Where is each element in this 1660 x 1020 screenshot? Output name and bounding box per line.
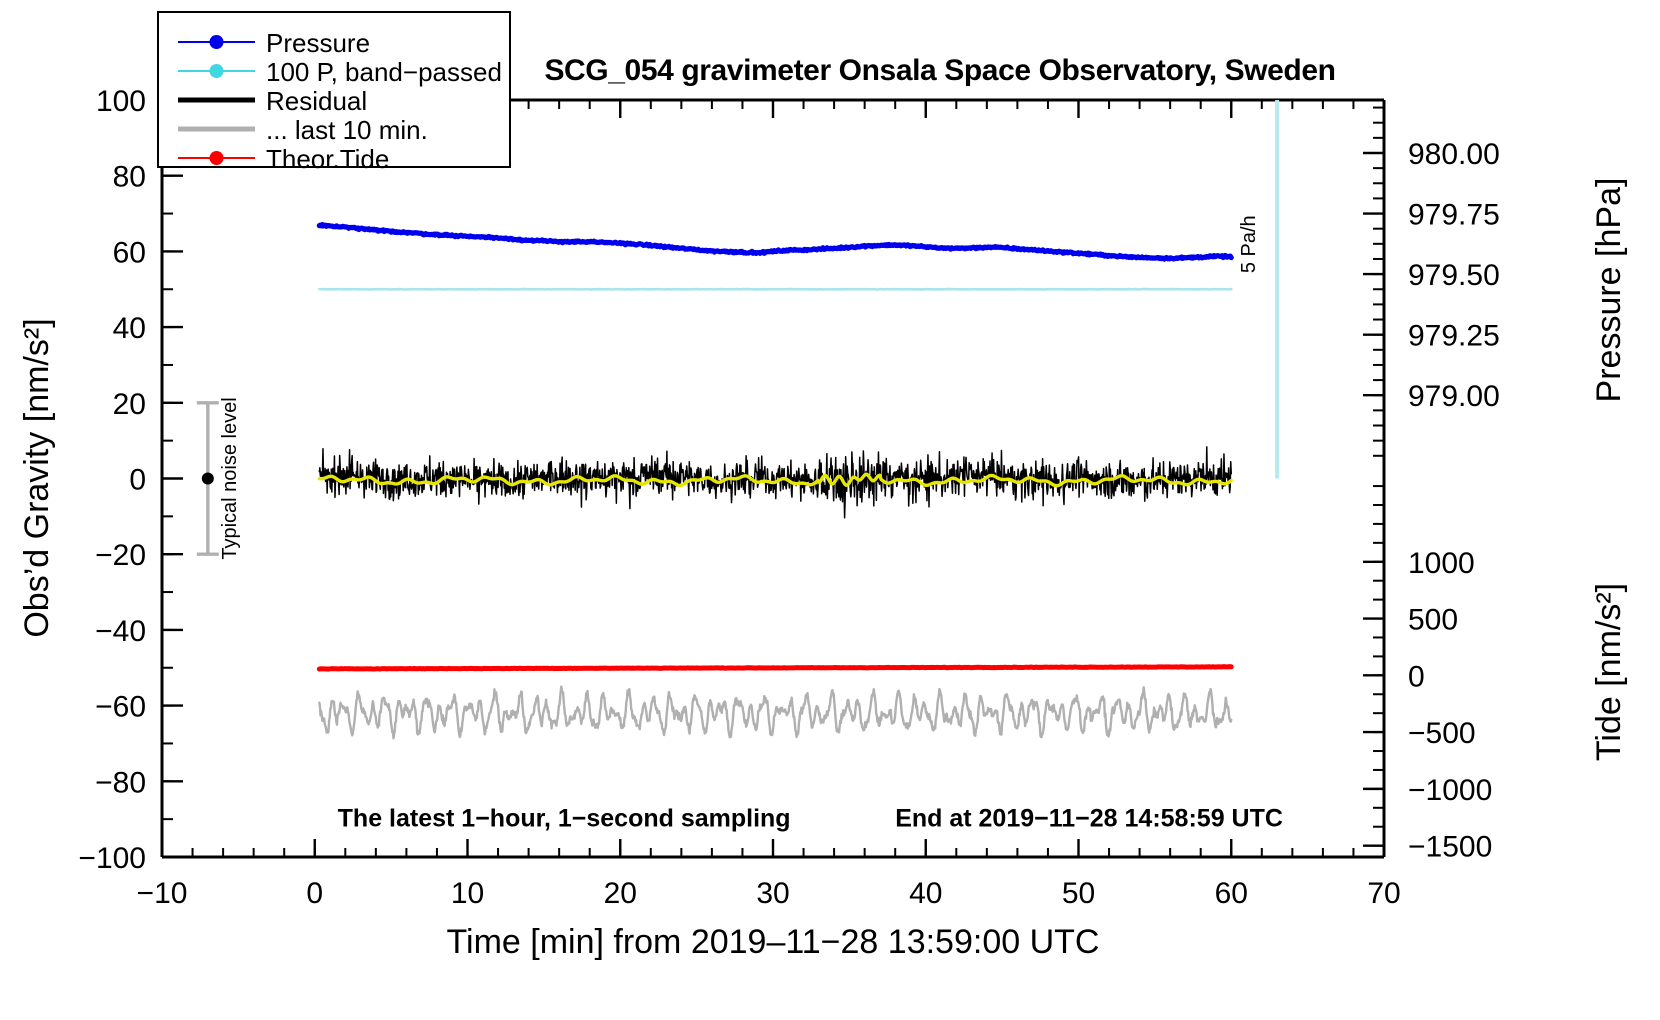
y-tick-label: 100 xyxy=(96,85,146,118)
end-time-label: End at 2019−11−28 14:58:59 UTC xyxy=(895,805,1283,833)
tide-tick-label: 1000 xyxy=(1408,547,1475,580)
tide-tick-label: −1500 xyxy=(1408,831,1492,864)
y-tick-label: −20 xyxy=(95,539,146,572)
noise-level-point xyxy=(202,473,214,485)
y-axis-label-pressure: Pressure [hPa] xyxy=(1590,178,1628,403)
pressure-tick-label: 980.00 xyxy=(1408,138,1500,171)
y-tick-label: 40 xyxy=(113,312,146,345)
figure-canvas: −10010203040506070 −100−80−60−40−2002040… xyxy=(0,0,1660,1020)
gravimeter-plot: −10010203040506070 −100−80−60−40−2002040… xyxy=(0,0,1660,1020)
x-tick-label: 50 xyxy=(1062,877,1095,910)
tide-tick-label: 500 xyxy=(1408,604,1458,637)
x-tick-label: 60 xyxy=(1215,877,1248,910)
y-tick-label: 60 xyxy=(113,236,146,269)
legend-marker-1 xyxy=(210,64,224,78)
y-tick-label: −100 xyxy=(78,842,146,875)
legend-label-3[interactable]: ... last 10 min. xyxy=(266,115,428,145)
page-title: SCG_054 gravimeter Onsala Space Observat… xyxy=(544,54,1335,87)
legend-label-4[interactable]: Theor.Tide xyxy=(266,144,389,174)
x-tick-label: 40 xyxy=(909,877,942,910)
x-tick-label: 30 xyxy=(756,877,789,910)
pressure-tick-label: 979.00 xyxy=(1408,380,1500,413)
series-theor-tide xyxy=(319,667,1231,669)
y-axis-label-left: Obs’d Gravity [nm/s²] xyxy=(18,318,56,637)
pressure-scalebar-label: 5 Pa/h xyxy=(1238,215,1260,273)
legend-marker-0 xyxy=(210,35,224,49)
y-tick-label: 0 xyxy=(129,464,146,497)
y-tick-label: −40 xyxy=(95,615,146,648)
x-tick-label: 70 xyxy=(1367,877,1400,910)
x-axis-label: Time [min] from 2019‒11−28 13:59:00 UTC xyxy=(447,923,1100,961)
legend-label-0[interactable]: Pressure xyxy=(266,28,370,58)
y-tick-label: 80 xyxy=(113,161,146,194)
tide-tick-label: 0 xyxy=(1408,660,1425,693)
x-tick-label: 10 xyxy=(451,877,484,910)
tide-tick-label: −500 xyxy=(1408,717,1476,750)
noise-level-label: Typical noise level xyxy=(219,397,241,559)
pressure-tick-label: 979.75 xyxy=(1408,199,1500,232)
pressure-tick-label: 979.50 xyxy=(1408,259,1500,292)
legend-label-2[interactable]: Residual xyxy=(266,86,367,116)
series-band-passed-pressure xyxy=(319,289,1231,290)
sampling-note-label: The latest 1−hour, 1−second sampling xyxy=(338,805,791,833)
y-axis-label-tide: Tide [nm/s²] xyxy=(1590,583,1628,761)
x-tick-label: −10 xyxy=(137,877,188,910)
legend-label-1[interactable]: 100 P, band−passed xyxy=(266,57,502,87)
legend[interactable]: Pressure100 P, band−passedResidual... la… xyxy=(158,12,510,174)
tide-tick-label: −1000 xyxy=(1408,774,1492,807)
x-tick-label: 20 xyxy=(604,877,637,910)
y-tick-label: −60 xyxy=(95,691,146,724)
pressure-tick-label: 979.25 xyxy=(1408,320,1500,353)
legend-marker-4 xyxy=(210,151,224,165)
y-tick-label: 20 xyxy=(113,388,146,421)
x-tick-label: 0 xyxy=(306,877,323,910)
y-tick-label: −80 xyxy=(95,766,146,799)
